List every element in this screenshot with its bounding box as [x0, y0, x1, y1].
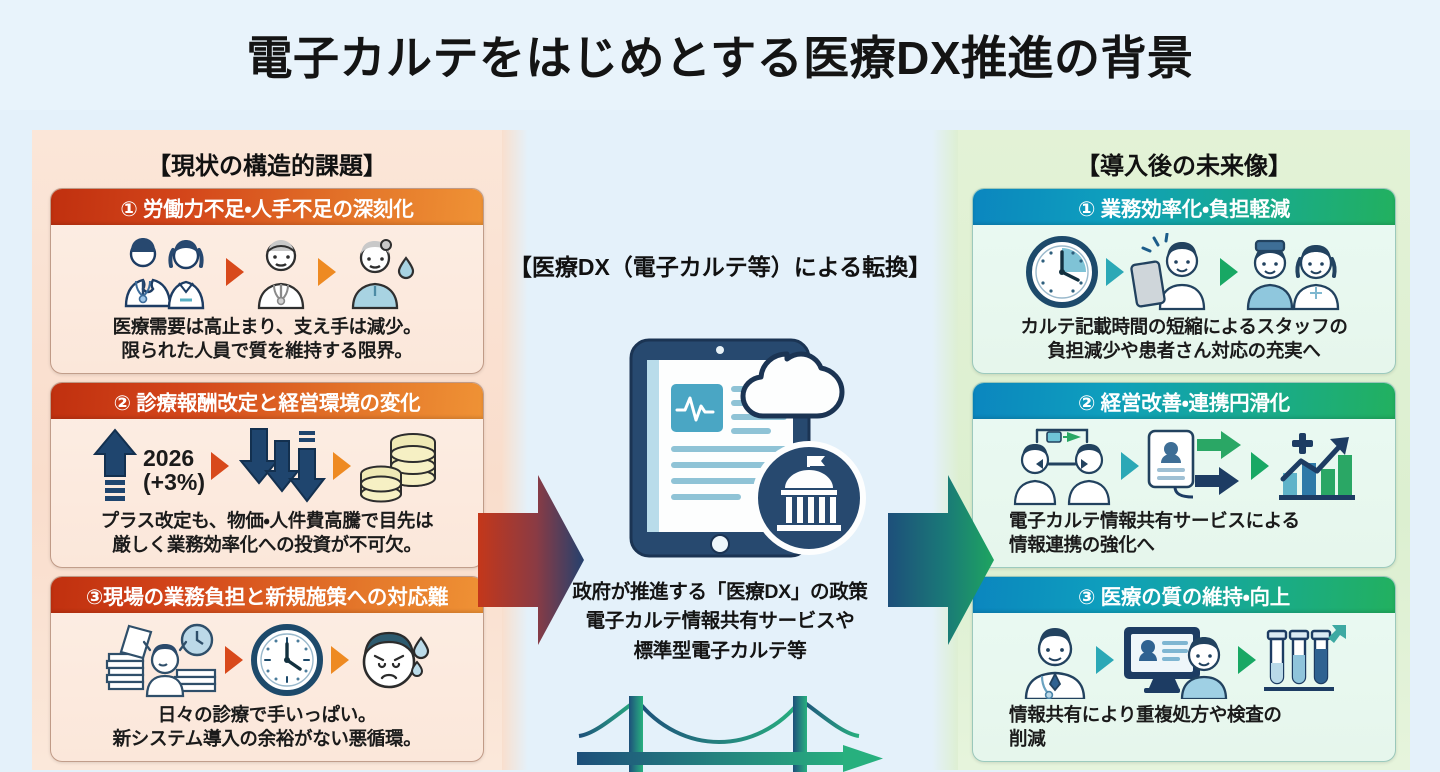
transition-arrow-left — [476, 465, 586, 655]
overwhelmed-worker-paperwork-icon — [103, 620, 219, 700]
up-arrow-icon — [93, 426, 141, 506]
center-graphic — [605, 322, 885, 572]
right-card-2[interactable]: ② 経営改善・連携円滑化 — [972, 382, 1396, 568]
annotation-percent: (+3%) — [143, 470, 205, 494]
left-card-2-body: 2026 (+3%) — [51, 419, 483, 567]
right-card-2-body: 電子カルテ情報共有サービスによる 情報連携の強化へ — [973, 419, 1395, 567]
suspension-bridge-arrow-icon — [565, 690, 885, 772]
doctor-icon — [1020, 621, 1090, 699]
test-tubes-icon — [1262, 621, 1348, 699]
clock-icon — [1024, 234, 1100, 310]
left-card-3-caption: 日々の診療で手いっぱい。 新システム導入の余裕がない悪循環。 — [113, 703, 422, 750]
left-card-2-connector-2 — [333, 452, 351, 480]
right-card-3-connector-1 — [1096, 646, 1114, 674]
page-title: 電子カルテをはじめとする医療DX推進の背景 — [246, 22, 1193, 88]
left-card-3[interactable]: ③現場の業務負担と新規施策への対応難 — [50, 576, 484, 762]
left-card-1-header: ① 労働力不足・人手不足の深刻化 — [51, 189, 483, 225]
left-card-2-annotation: 2026 (+3%) — [143, 446, 205, 494]
left-card-1-body: 医療需要は高止まり、支え手は減少。 限られた人員で質を維持する限界。 — [51, 225, 483, 373]
right-card-1-header: ① 業務効率化・負担軽減 — [973, 189, 1395, 225]
right-panel-heading: 【導入後の未来像】 — [958, 146, 1410, 181]
center-heading: 【医療DX（電子カルテ等）による転換】 — [500, 248, 940, 282]
left-card-1[interactable]: ① 労働力不足・人手不足の深刻化 — [50, 188, 484, 374]
right-card-2-header: ② 経営改善・連携円滑化 — [973, 383, 1395, 419]
page-title-bar: 電子カルテをはじめとする医療DX推進の背景 — [0, 0, 1440, 110]
stressed-face-icon — [355, 622, 431, 698]
right-card-3-connector-2 — [1238, 646, 1256, 674]
right-card-1-connector-2 — [1220, 258, 1238, 286]
right-card-2-connector-2 — [1251, 452, 1269, 480]
right-card-3[interactable]: ③ 医療の質の維持・向上 — [972, 576, 1396, 762]
left-card-1-icon-row — [61, 229, 473, 315]
right-card-3-body: 情報共有により重複処方や検査の 削減 — [973, 613, 1395, 761]
tablet-cloud-government-icon — [605, 322, 885, 572]
bridge-graphic-wrap: 現状 未来 — [565, 690, 885, 772]
right-card-2-connector-1 — [1121, 452, 1139, 480]
coin-stack-icon — [357, 426, 441, 506]
annotation-year: 2026 — [143, 446, 205, 470]
right-card-1-caption: カルテ記載時間の短縮によるスタッフの 負担減少や患者さん対応の充実へ — [1020, 315, 1347, 362]
left-panel-current-issues: 【現状の構造的課題】 ① 労働力不足・人手不足の深刻化 — [32, 130, 502, 770]
left-card-1-connector-1 — [226, 258, 244, 286]
down-arrows-icon — [235, 425, 327, 507]
right-card-1-connector-1 — [1106, 258, 1124, 286]
left-card-3-body: 日々の診療で手いっぱい。 新システム導入の余裕がない悪循環。 — [51, 613, 483, 761]
right-card-3-caption: 情報共有により重複処方や検査の 削減 — [983, 703, 1385, 750]
doctors-data-exchange-icon — [1011, 426, 1115, 506]
left-card-3-icon-row — [61, 617, 473, 703]
right-card-1-body: カルテ記載時間の短縮によるスタッフの 負担減少や患者さん対応の充実へ — [973, 225, 1395, 373]
elderly-woman-sweat-icon — [342, 234, 418, 310]
left-card-1-caption: 医療需要は高止まり、支え手は減少。 限られた人員で質を維持する限界。 — [113, 315, 422, 362]
left-card-3-header: ③現場の業務負担と新規施策への対応難 — [51, 577, 483, 613]
doctor-nurse-pair-icon — [116, 234, 220, 310]
record-sharing-icon — [1145, 427, 1245, 505]
left-card-2-icon-row: 2026 (+3%) — [61, 423, 473, 509]
left-card-2-caption: プラス改定も、物価・人件費高騰で目先は 厳しく業務効率化への投資が不可欠。 — [101, 509, 434, 556]
left-card-3-connector-2 — [331, 646, 349, 674]
clock-icon — [249, 622, 325, 698]
left-card-2-header: ② 診療報酬改定と経営環境の変化 — [51, 383, 483, 419]
right-card-3-icon-row — [983, 617, 1385, 703]
right-card-3-header: ③ 医療の質の維持・向上 — [973, 577, 1395, 613]
left-card-2-connector-1 — [211, 452, 229, 480]
infographic-canvas: 【現状の構造的課題】 ① 労働力不足・人手不足の深刻化 — [0, 110, 1440, 772]
right-panel-future-vision: 【導入後の未来像】 ① 業務効率化・負担軽減 — [958, 130, 1410, 770]
right-card-1[interactable]: ① 業務効率化・負担軽減 — [972, 188, 1396, 374]
right-card-1-icon-row — [983, 229, 1385, 315]
elderly-man-icon — [250, 234, 312, 310]
left-panel-heading: 【現状の構造的課題】 — [32, 146, 502, 181]
right-card-2-icon-row — [983, 423, 1385, 509]
left-card-2[interactable]: ② 診療報酬改定と経営環境の変化 2026 (+3%) — [50, 382, 484, 568]
left-card-1-connector-2 — [318, 258, 336, 286]
monitor-telemedicine-patient-icon — [1120, 621, 1232, 699]
right-card-2-caption: 電子カルテ情報共有サービスによる 情報連携の強化へ — [983, 509, 1385, 556]
growth-chart-icon — [1275, 427, 1357, 505]
left-card-3-connector-1 — [225, 646, 243, 674]
nurses-pair-icon — [1244, 233, 1344, 311]
transition-arrow-right — [886, 465, 996, 655]
doctor-tablet-icon — [1130, 233, 1214, 311]
